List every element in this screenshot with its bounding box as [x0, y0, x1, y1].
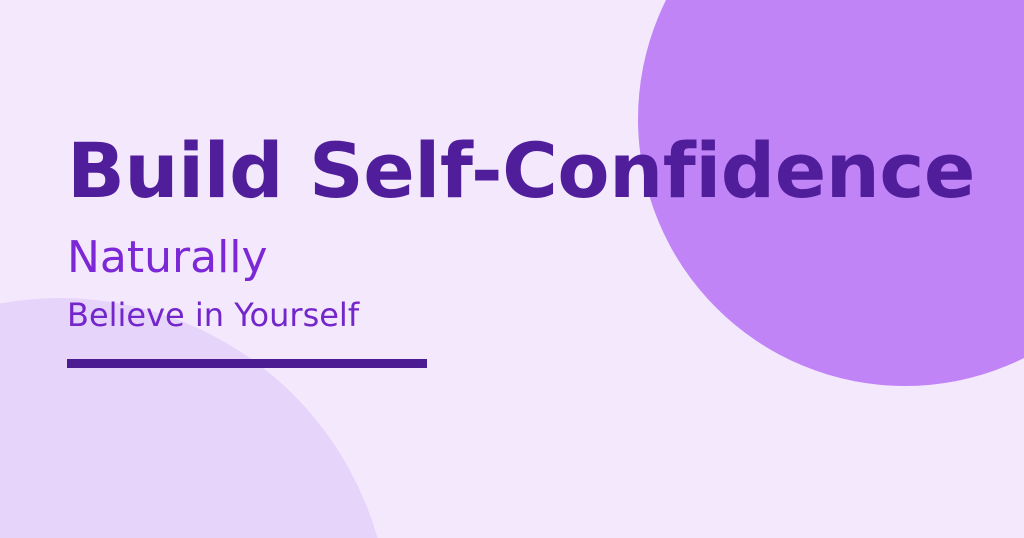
promo-banner: Build Self-Confidence Naturally Believe … — [0, 0, 1024, 538]
accent-bar — [67, 359, 427, 368]
banner-content: Build Self-Confidence Naturally Believe … — [67, 133, 967, 368]
banner-headline: Build Self-Confidence — [67, 133, 967, 209]
banner-tagline: Believe in Yourself — [67, 281, 967, 333]
banner-subheadline: Naturally — [67, 209, 967, 281]
